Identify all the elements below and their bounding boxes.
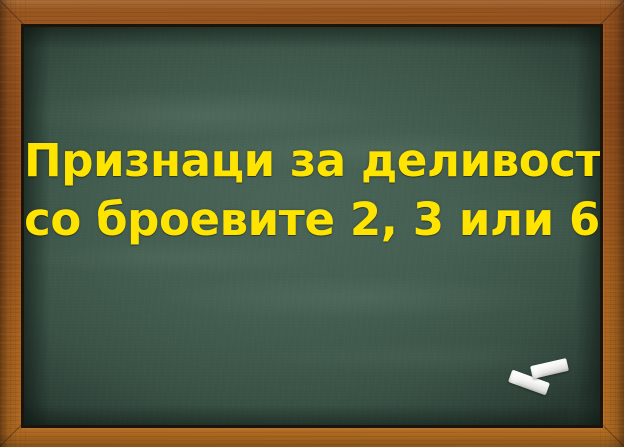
chalkboard-slide: Признаци за деливост со броевите 2, 3 ил… — [0, 0, 624, 447]
board-base-color — [24, 27, 600, 425]
chalkboard-surface: Признаци за деливост со броевите 2, 3 ил… — [24, 27, 600, 425]
